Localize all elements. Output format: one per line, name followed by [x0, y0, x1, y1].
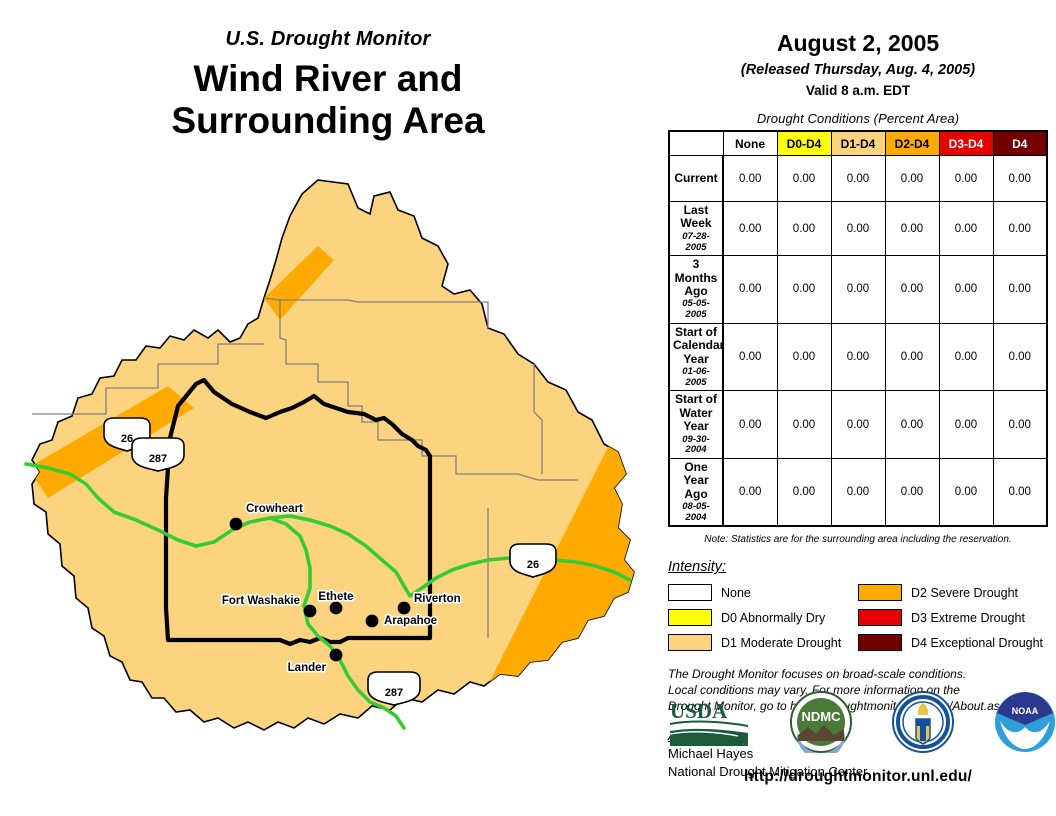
table-row: 3 Months Ago05-05-20050.000.000.000.000.… — [669, 256, 1047, 324]
row-label: Start ofCalendar Year01-06-2005 — [669, 323, 723, 391]
region-title-line2: Surrounding Area — [0, 100, 656, 142]
row-date: 07-28-2005 — [673, 232, 719, 253]
legend-item: D2 Severe Drought — [858, 584, 1048, 601]
col-header-d2-d4: D2-D4 — [885, 131, 939, 156]
table-cell: 0.00 — [777, 202, 831, 256]
table-cell: 0.00 — [939, 458, 993, 526]
city-label-ethete: Ethete — [318, 591, 353, 603]
legend-label: D3 Extreme Drought — [911, 611, 1025, 625]
col-header-none: None — [723, 131, 777, 156]
table-cell: 0.00 — [885, 323, 939, 391]
table-cell: 0.00 — [885, 156, 939, 202]
city-label-riverton: Riverton — [414, 593, 461, 605]
row-date: 01-06-2005 — [673, 367, 719, 388]
legend-label: D0 Abnormally Dry — [721, 611, 825, 625]
city-label-arapahoe: Arapahoe — [384, 615, 437, 627]
row-date: 08-05-2004 — [673, 502, 719, 523]
city-label-crowheart: Crowheart — [246, 503, 303, 515]
legend-item: D1 Moderate Drought — [668, 634, 858, 651]
legend-swatch — [858, 584, 902, 601]
highway-shield-287-south: 287 — [368, 672, 420, 705]
table-cell: 0.00 — [939, 256, 993, 324]
table-cell: 0.00 — [993, 458, 1047, 526]
title-block: U.S. Drought Monitor Wind River and Surr… — [0, 28, 656, 142]
legend-item: None — [668, 584, 858, 601]
city-label-lander: Lander — [288, 662, 327, 674]
col-header-d0-d4: D0-D4 — [777, 131, 831, 156]
table-cell: 0.00 — [831, 323, 885, 391]
table-cell: 0.00 — [885, 256, 939, 324]
row-date: 05-05-2005 — [673, 299, 719, 320]
table-row: Current0.000.000.000.000.000.00 — [669, 156, 1047, 202]
table-cell: 0.00 — [993, 156, 1047, 202]
svg-text:287: 287 — [149, 453, 167, 465]
table-cell: 0.00 — [939, 391, 993, 459]
table-cell: 0.00 — [777, 391, 831, 459]
svg-text:26: 26 — [527, 559, 539, 571]
legend-row: D0 Abnormally DryD3 Extreme Drought — [668, 605, 1048, 630]
page-title: Wind River and Surrounding Area — [0, 58, 656, 142]
usda-logo: USDA — [668, 696, 750, 753]
website-url[interactable]: http://droughtmonitor.unl.edu/ — [660, 768, 1056, 786]
highway-shield-287-west: 287 — [132, 438, 184, 471]
col-header-d3-d4: D3-D4 — [939, 131, 993, 156]
table-row: One Year Ago08-05-20040.000.000.000.000.… — [669, 458, 1047, 526]
row-date: 09-30-2004 — [673, 435, 719, 456]
svg-text:287: 287 — [385, 687, 403, 699]
valid-time: Valid 8 a.m. EDT — [660, 83, 1056, 98]
table-cell: 0.00 — [723, 458, 777, 526]
report-date: August 2, 2005 — [660, 30, 1056, 57]
table-cell: 0.00 — [939, 323, 993, 391]
row-label: Current — [669, 156, 723, 202]
legend-item: D3 Extreme Drought — [858, 609, 1048, 626]
table-cell: 0.00 — [831, 202, 885, 256]
intensity-heading: Intensity: — [668, 559, 1056, 575]
program-title: U.S. Drought Monitor — [0, 28, 656, 51]
table-cell: 0.00 — [777, 458, 831, 526]
legend-row: D1 Moderate DroughtD4 Exceptional Drough… — [668, 630, 1048, 655]
drought-statistics-table: None D0-D4 D1-D4 D2-D4 D3-D4 D4 Current0… — [668, 130, 1048, 527]
svg-text:USDA: USDA — [670, 699, 728, 723]
svg-text:NOAA: NOAA — [1012, 706, 1039, 716]
table-cell: 0.00 — [993, 391, 1047, 459]
table-note: Note: Statistics are for the surrounding… — [668, 534, 1048, 545]
legend-label: D4 Exceptional Drought — [911, 636, 1043, 650]
table-cell: 0.00 — [723, 256, 777, 324]
date-block: August 2, 2005 (Released Thursday, Aug. … — [660, 0, 1056, 98]
noaa-logo: NOAA — [994, 691, 1056, 758]
table-cell: 0.00 — [831, 391, 885, 459]
table-cell: 0.00 — [939, 156, 993, 202]
legend-swatch — [858, 609, 902, 626]
table-cell: 0.00 — [993, 202, 1047, 256]
table-cell: 0.00 — [777, 323, 831, 391]
legend-swatch — [668, 609, 712, 626]
col-header-d4: D4 — [993, 131, 1047, 156]
legend-row: NoneD2 Severe Drought — [668, 580, 1048, 605]
intensity-legend: NoneD2 Severe DroughtD0 Abnormally DryD3… — [668, 580, 1048, 655]
ndmc-logo: NDMC — [790, 691, 852, 758]
table-cell: 0.00 — [723, 202, 777, 256]
disclaimer-line-1: The Drought Monitor focuses on broad-sca… — [668, 667, 1056, 683]
table-row: Last Week07-28-20050.000.000.000.000.000… — [669, 202, 1047, 256]
table-cell: 0.00 — [777, 256, 831, 324]
table-cell: 0.00 — [723, 156, 777, 202]
row-label: 3 Months Ago05-05-2005 — [669, 256, 723, 324]
legend-label: D2 Severe Drought — [911, 586, 1018, 600]
city-dot-riverton — [398, 602, 411, 615]
legend-swatch — [858, 634, 902, 651]
row-label: One Year Ago08-05-2004 — [669, 458, 723, 526]
legend-swatch — [668, 634, 712, 651]
table-cell: 0.00 — [831, 256, 885, 324]
release-date: (Released Thursday, Aug. 4, 2005) — [660, 62, 1056, 78]
city-dot-crowheart — [230, 518, 243, 531]
table-cell: 0.00 — [993, 323, 1047, 391]
svg-text:26: 26 — [121, 433, 133, 445]
row-label: Start ofWater Year09-30-2004 — [669, 391, 723, 459]
logo-row: USDA NDMC — [668, 690, 1056, 758]
legend-item: D4 Exceptional Drought — [858, 634, 1048, 651]
table-cell: 0.00 — [831, 156, 885, 202]
table-caption: Drought Conditions (Percent Area) — [660, 111, 1056, 126]
table-cell: 0.00 — [885, 202, 939, 256]
city-dot-ethete — [330, 602, 343, 615]
city-label-fort-washakie: Fort Washakie — [222, 595, 300, 607]
table-cell: 0.00 — [723, 323, 777, 391]
table-cell: 0.00 — [885, 458, 939, 526]
table-cell: 0.00 — [885, 391, 939, 459]
col-header-d1-d4: D1-D4 — [831, 131, 885, 156]
table-body: Current0.000.000.000.000.000.00Last Week… — [669, 156, 1047, 527]
legend-swatch — [668, 584, 712, 601]
city-dot-lander — [330, 649, 343, 662]
commerce-seal — [892, 691, 954, 758]
table-row: Start ofCalendar Year01-06-20050.000.000… — [669, 323, 1047, 391]
city-dot-arapahoe — [366, 615, 379, 628]
row-label: Last Week07-28-2005 — [669, 202, 723, 256]
table-row: Start ofWater Year09-30-20040.000.000.00… — [669, 391, 1047, 459]
table-corner-cell — [669, 131, 723, 156]
region-title-line1: Wind River and — [0, 58, 656, 100]
table-cell: 0.00 — [831, 458, 885, 526]
table-cell: 0.00 — [777, 156, 831, 202]
highway-shield-26-east: 26 — [510, 544, 556, 577]
svg-text:NDMC: NDMC — [802, 709, 842, 724]
legend-label: None — [721, 586, 751, 600]
table-header-row: None D0-D4 D1-D4 D2-D4 D3-D4 D4 — [669, 131, 1047, 156]
right-panel: August 2, 2005 (Released Thursday, Aug. … — [660, 0, 1056, 816]
table-cell: 0.00 — [723, 391, 777, 459]
legend-label: D1 Moderate Drought — [721, 636, 841, 650]
legend-item: D0 Abnormally Dry — [668, 609, 858, 626]
drought-map[interactable]: Crowheart Fort Washakie Ethete Riverton … — [18, 168, 658, 798]
table-cell: 0.00 — [939, 202, 993, 256]
city-dot-fort-washakie — [304, 605, 317, 618]
table-cell: 0.00 — [993, 256, 1047, 324]
